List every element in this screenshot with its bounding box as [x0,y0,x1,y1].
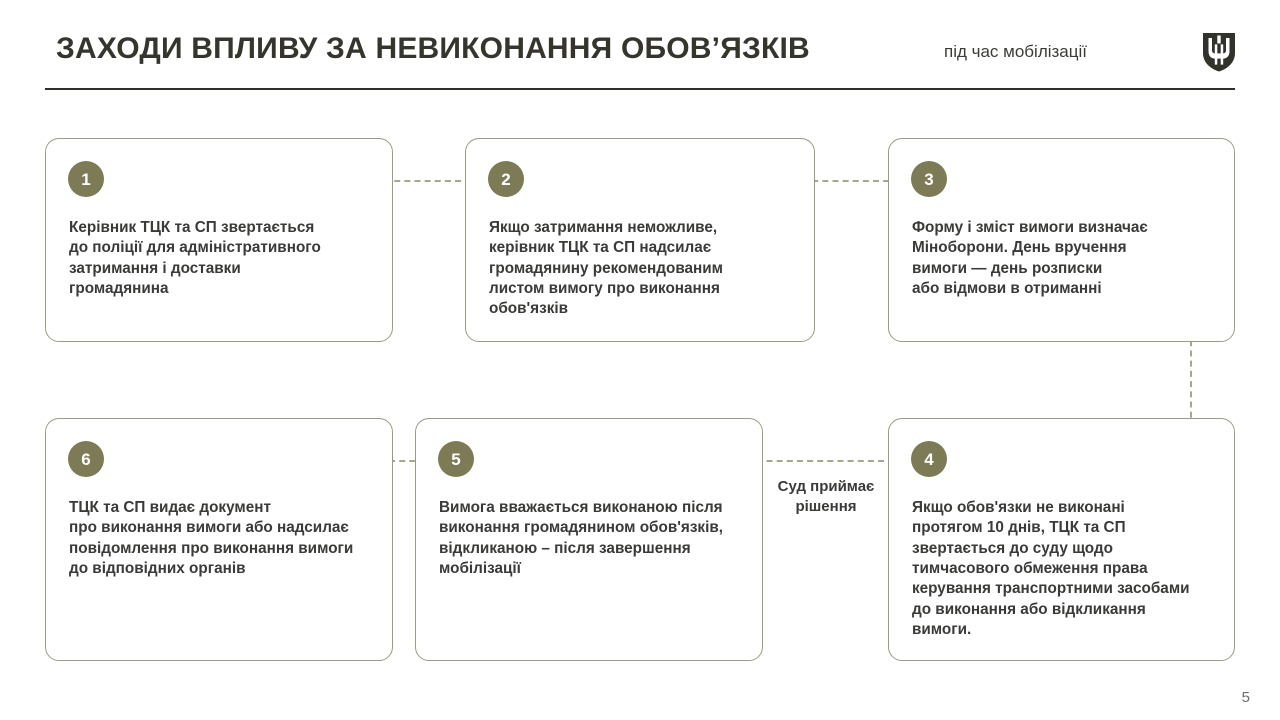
step-text-1: Керівник ТЦК та СП звертається до поліці… [69,218,378,299]
header-divider [45,88,1235,90]
page-header: ЗАХОДИ ВПЛИВУ ЗА НЕВИКОНАННЯ ОБОВ’ЯЗКІВ … [0,0,1280,100]
step-text-3: Форму і зміст вимоги визначає Міноборони… [912,218,1220,299]
step-badge-5: 5 [438,441,474,477]
step-text-2: Якщо затримання неможливе, керівник ТЦК … [489,218,800,320]
step-card-1: 1 Керівник ТЦК та СП звертається до полі… [45,138,393,342]
step-card-3: 3 Форму і зміст вимоги визначає Міноборо… [888,138,1235,342]
step-text-6: ТЦК та СП видає документ про виконання в… [69,498,378,579]
court-decision-label: Суд приймає рішення [765,475,887,520]
step-badge-2: 2 [488,161,524,197]
page-number: 5 [1242,689,1250,706]
step-text-5: Вимога вважається виконаною після викона… [439,498,748,579]
step-text-4: Якщо обов'язки не виконані протягом 10 д… [912,498,1220,640]
step-badge-1: 1 [68,161,104,197]
ukraine-trident-shield-icon [1201,31,1237,73]
page-title: ЗАХОДИ ВПЛИВУ ЗА НЕВИКОНАННЯ ОБОВ’ЯЗКІВ [56,32,810,66]
step-card-4: 4 Якщо обов'язки не виконані протягом 10… [888,418,1235,661]
step-card-2: 2 Якщо затримання неможливе, керівник ТЦ… [465,138,815,342]
connector-card3-card4 [1190,330,1192,428]
step-card-5: 5 Вимога вважається виконаною після вико… [415,418,763,661]
step-badge-3: 3 [911,161,947,197]
step-badge-6: 6 [68,441,104,477]
header-subtitle: під час мобілізації [944,42,1087,62]
step-badge-4: 4 [911,441,947,477]
step-card-6: 6 ТЦК та СП видає документ про виконання… [45,418,393,661]
